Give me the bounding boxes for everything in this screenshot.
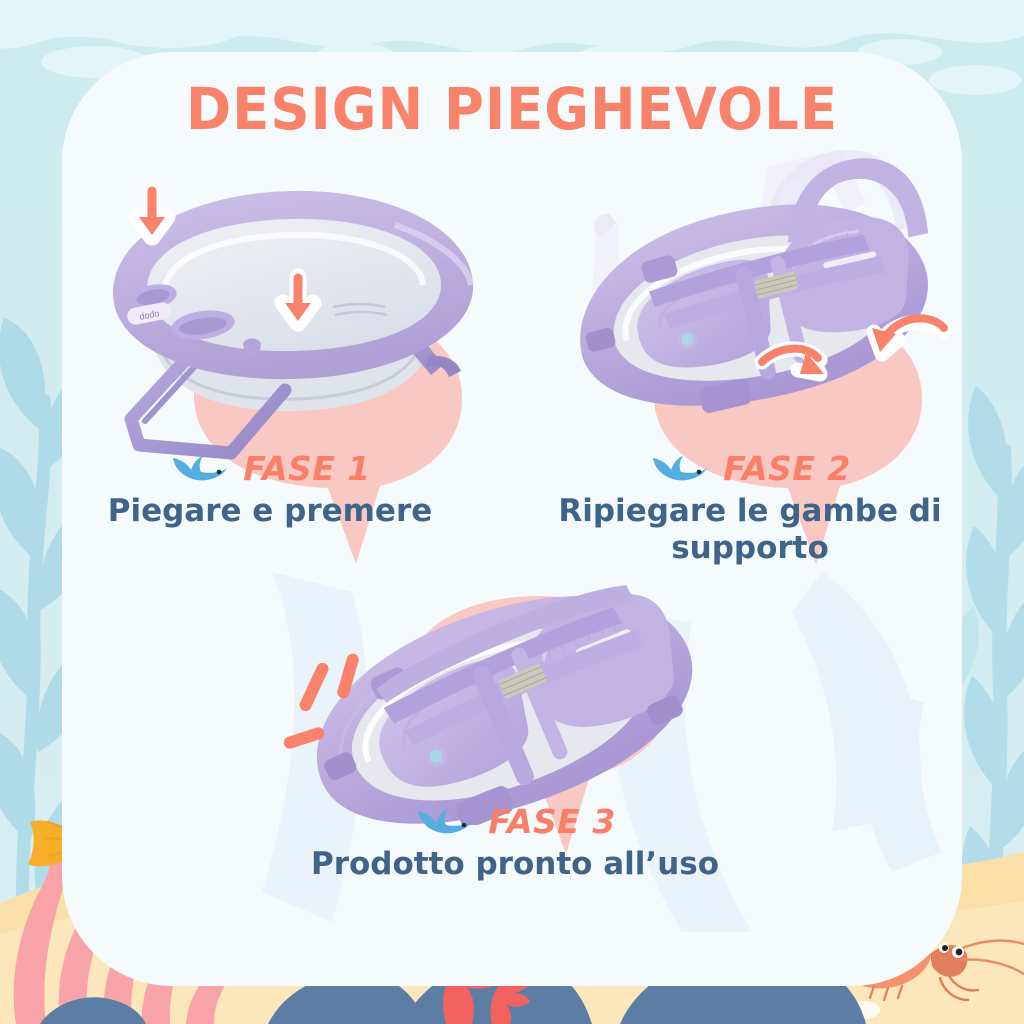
step-2-description: Ripiegare le gambe di supporto [540,493,960,566]
step-caption-3: FASE 3 Prodotto pronto all’uso [290,800,740,883]
step-1-description: Piegare e premere [70,493,470,530]
infographic-canvas: dodo [0,0,1024,1024]
fish-icon [414,807,476,835]
fish-icon [169,454,231,482]
product-image-step-2 [562,150,962,450]
fish-icon [649,454,711,482]
step-3-label: FASE 3 [488,802,616,841]
step-3-description: Prodotto pronto all’uso [290,846,740,883]
down-arrow-annotation-left [137,190,167,237]
step-1-heading: FASE 1 [70,447,470,489]
product-image-step-3 [280,575,740,825]
step-3-heading: FASE 3 [290,800,740,842]
step-caption-2: FASE 2 Ripiegare le gambe di supporto [540,447,960,566]
folding-bathtub-folded [290,575,719,825]
page-title: DESIGN PIEGHEVOLE [89,80,935,138]
step-1-label: FASE 1 [243,449,371,488]
folding-bathtub-collapsing [562,150,947,428]
step-2-heading: FASE 2 [540,447,960,489]
product-image-step-1: dodo [95,185,495,475]
step-2-label: FASE 2 [723,449,851,488]
step-caption-1: FASE 1 Piegare e premere [70,447,470,530]
